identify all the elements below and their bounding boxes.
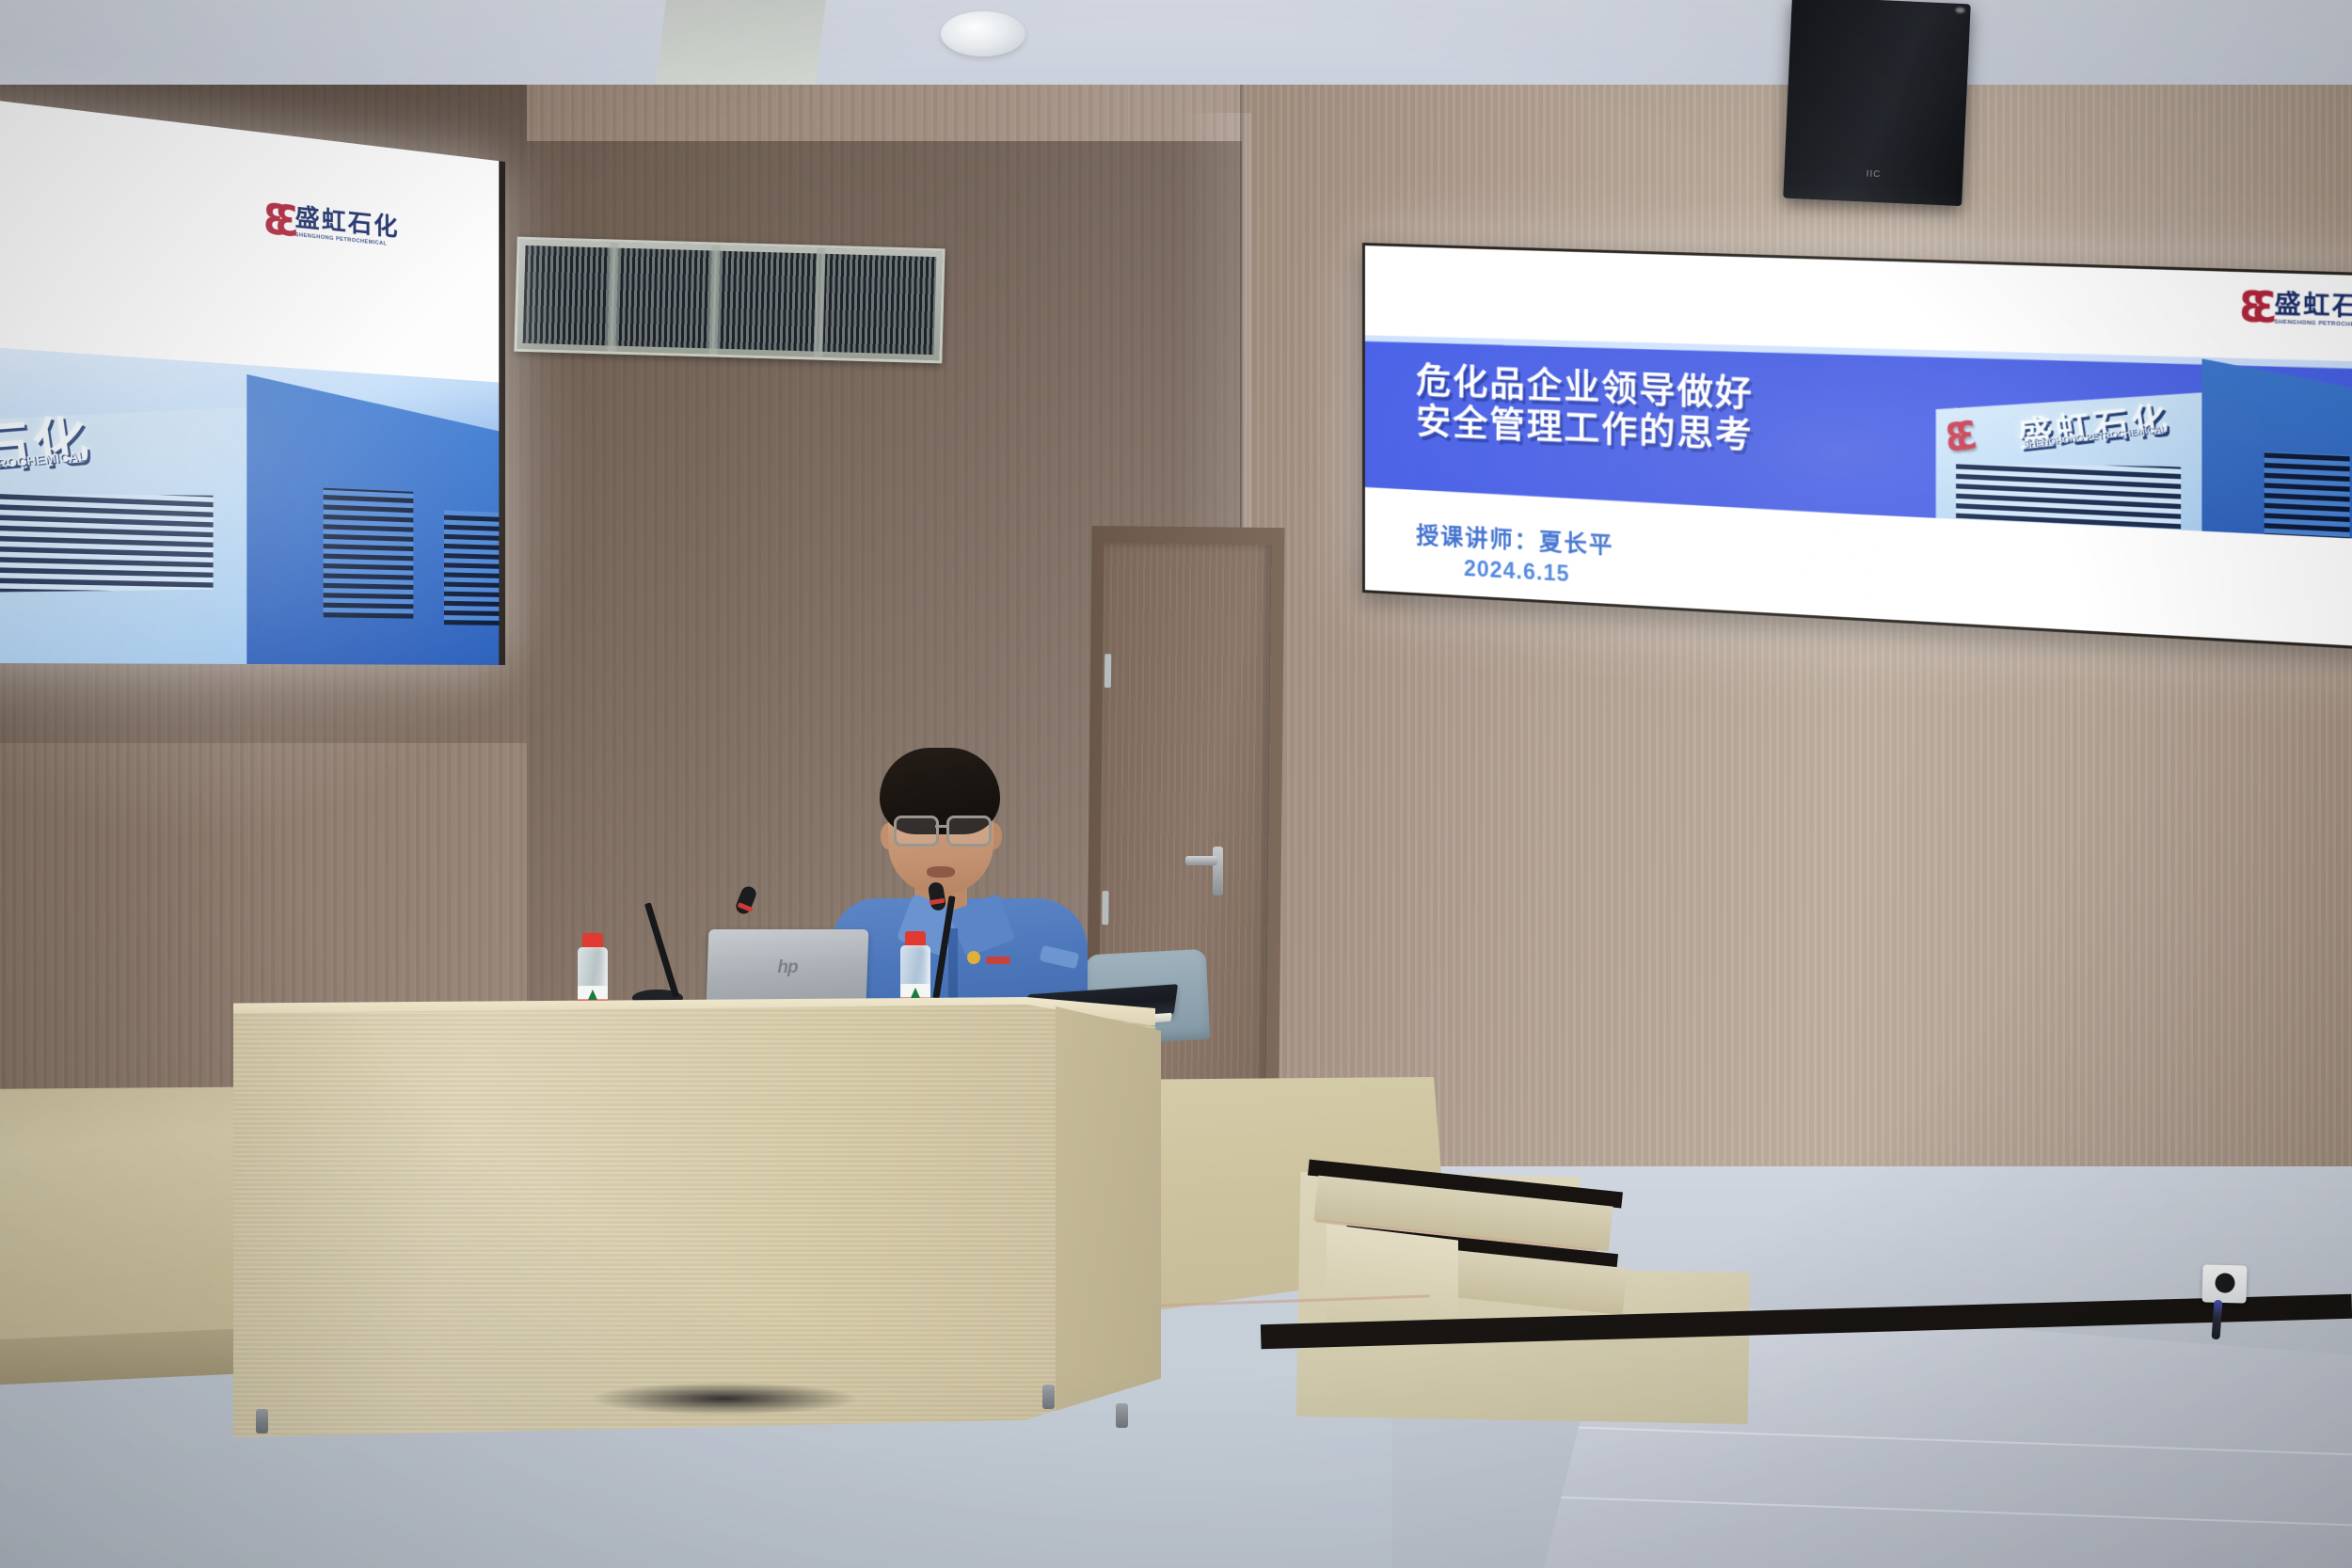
secondary-projection-screen: ℇℇ 盛虹石化 SHENGHONG PETROCHEMICAL 虹石化 HONG… bbox=[0, 93, 505, 665]
presenter-mouth bbox=[927, 866, 955, 878]
presenter-person bbox=[828, 748, 1091, 1030]
speaker-brand-label: IIC bbox=[1866, 169, 1881, 181]
podium-foot bbox=[1042, 1385, 1055, 1409]
building-louver-window bbox=[324, 488, 413, 619]
eyeglasses-bridge bbox=[935, 825, 948, 828]
slide-logo-cn: 盛虹石化 bbox=[2274, 292, 2352, 321]
hvac-vent-grille bbox=[514, 237, 945, 364]
laptop[interactable]: hp bbox=[707, 929, 867, 1003]
podium-cables bbox=[593, 1383, 856, 1415]
podium-foot bbox=[256, 1409, 268, 1433]
floor-tile-seam bbox=[1543, 1425, 2352, 1456]
wall-mounted-speaker: IIC bbox=[1783, 0, 1971, 206]
hvac-vent-slats bbox=[523, 245, 937, 355]
door-hinge bbox=[1102, 891, 1108, 925]
shenghong-logo-mark-icon: ℇℇ bbox=[2239, 286, 2265, 329]
socket-port-icon bbox=[2215, 1273, 2235, 1293]
main-projection-screen: ℇℇ 盛虹石化 SHENGHONG PETROCHEMICAL ℇℇ 盛虹石化 … bbox=[1362, 243, 2352, 653]
slide-title: 危化品企业领导做好 安全管理工作的思考 bbox=[1416, 361, 1754, 457]
podium-foot bbox=[1116, 1403, 1128, 1428]
lecture-hall-photo: IIC ℇℇ 盛虹石化 SHENGHONG PETROCHEMICAL 虹石化 … bbox=[0, 0, 2352, 1568]
floor-tile-seam bbox=[1543, 1496, 2352, 1527]
laptop-brand-logo: hp bbox=[777, 958, 797, 978]
slide-logo: ℇℇ 盛虹石化 SHENGHONG PETROCHEMICAL bbox=[2239, 291, 2352, 330]
podium-side-panel bbox=[1056, 1006, 1161, 1411]
eyeglasses-icon bbox=[894, 816, 939, 847]
ceiling-dome-light-icon bbox=[941, 11, 1025, 56]
speaker-highlight bbox=[1955, 8, 1964, 13]
building-louver-window bbox=[444, 511, 500, 626]
presenter-name-tag bbox=[986, 957, 1010, 964]
door-lock-plate bbox=[1213, 847, 1223, 895]
presenter-badge-icon bbox=[967, 951, 980, 964]
door-hinge bbox=[1104, 654, 1111, 688]
building-louver-window bbox=[0, 484, 214, 598]
secondary-slide-building-photo: 虹石化 HONG PETROCHEMICAL bbox=[0, 344, 499, 665]
wall-socket[interactable] bbox=[2201, 1264, 2247, 1303]
door-handle[interactable] bbox=[1185, 856, 1217, 865]
shenghong-logo-mark-icon: ℇℇ bbox=[263, 198, 287, 242]
podium-desk bbox=[233, 1005, 1155, 1437]
bottle-leaf-icon bbox=[911, 988, 920, 998]
eyeglasses-icon bbox=[946, 816, 992, 847]
building-logo-mark-icon: ℇℇ bbox=[1944, 415, 1969, 462]
bottle-leaf-icon bbox=[588, 990, 597, 1000]
